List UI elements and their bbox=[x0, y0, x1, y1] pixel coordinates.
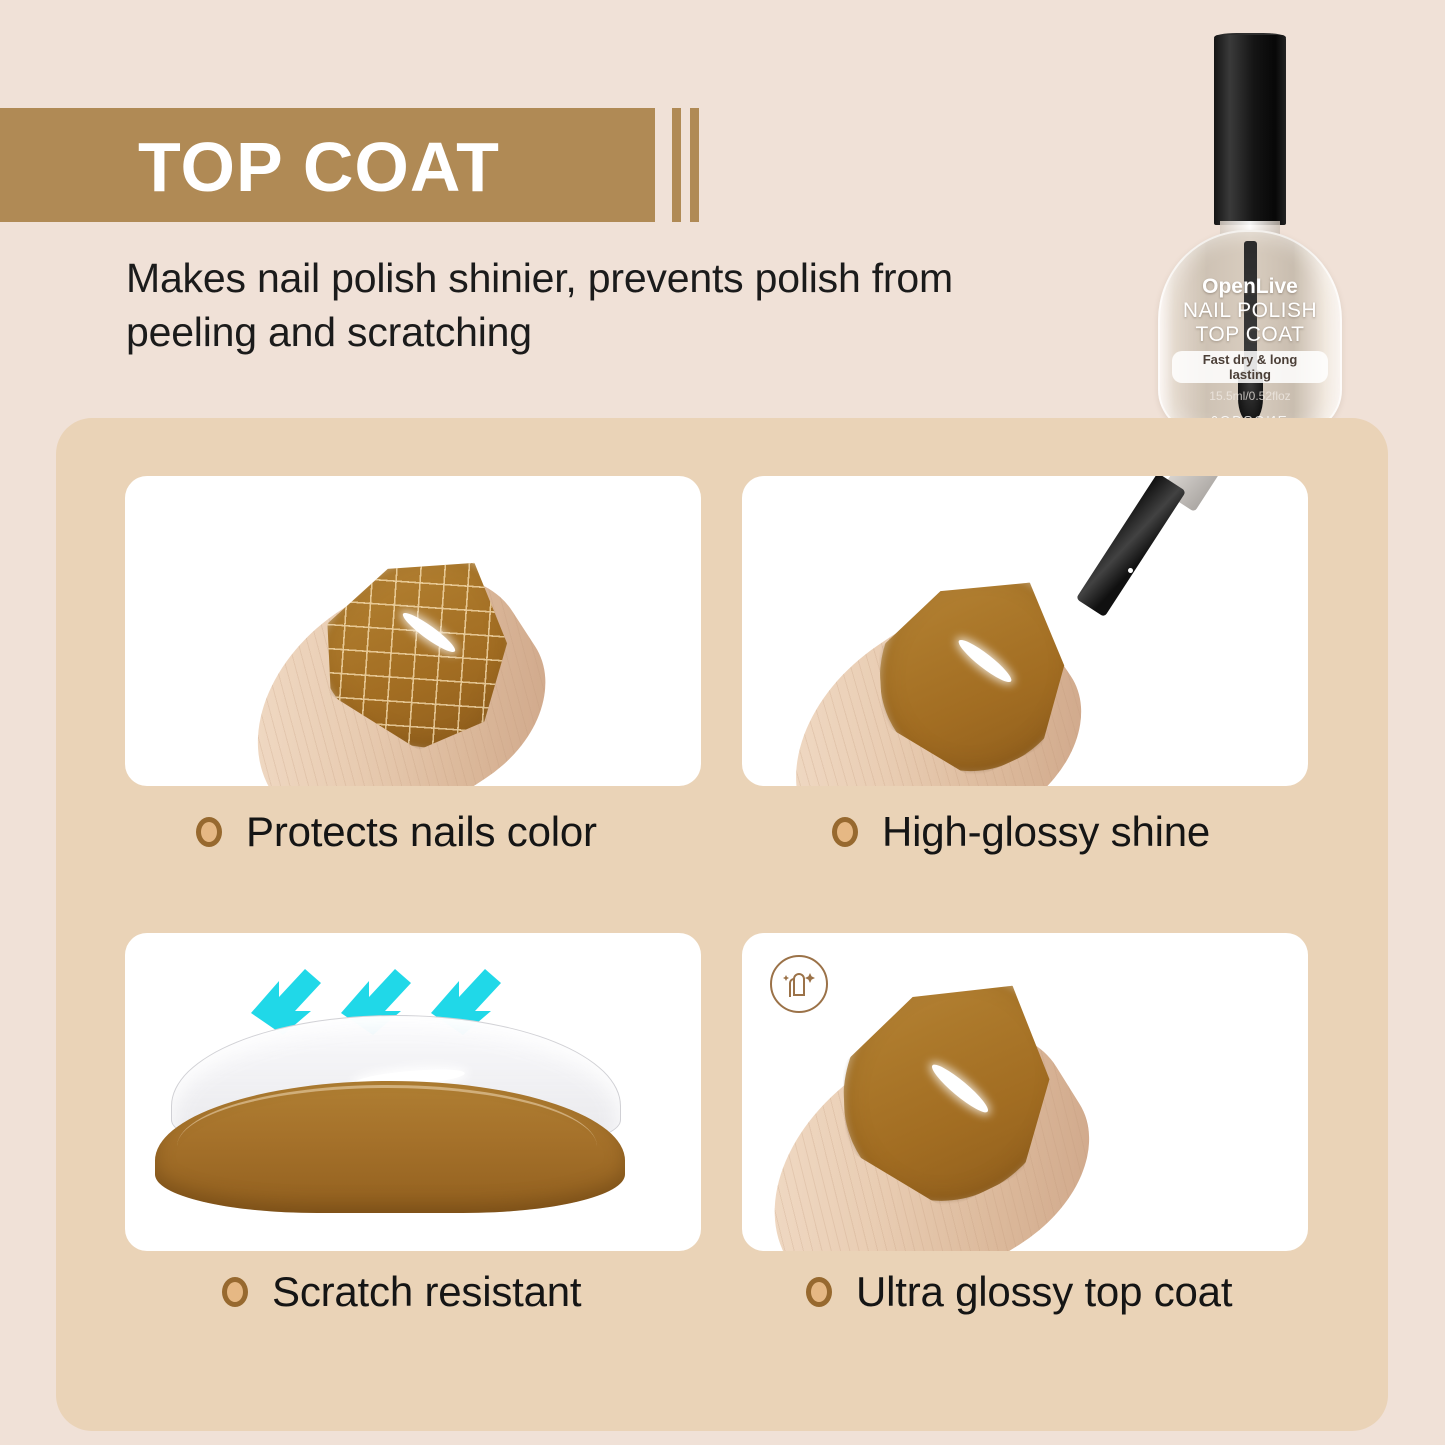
page-title: TOP COAT bbox=[138, 119, 638, 215]
ring-bullet-icon bbox=[222, 1277, 248, 1307]
product-bottle: OpenLive NAIL POLISH TOP COAT Fast dry &… bbox=[1150, 25, 1370, 475]
header-accent-bar-2 bbox=[690, 108, 699, 222]
brush-handle bbox=[1076, 476, 1186, 617]
caption-label: Ultra glossy top coat bbox=[856, 1268, 1232, 1316]
caption-high-glossy-shine: High-glossy shine bbox=[832, 808, 1210, 856]
nail-sparkle-badge-icon bbox=[770, 955, 828, 1013]
ring-bullet-icon bbox=[832, 817, 858, 847]
feature-card-ultra-glossy-top-coat[interactable] bbox=[742, 933, 1308, 1251]
caption-label: Scratch resistant bbox=[272, 1268, 581, 1316]
header-accent-bar-1 bbox=[672, 108, 681, 222]
caption-ultra-glossy-top-coat: Ultra glossy top coat bbox=[806, 1268, 1232, 1316]
ring-bullet-icon bbox=[806, 1277, 832, 1307]
ring-bullet-icon bbox=[196, 817, 222, 847]
subtitle-text: Makes nail polish shinier, prevents poli… bbox=[126, 251, 1076, 359]
feature-card-protects-nails-color[interactable] bbox=[125, 476, 701, 786]
bottle-cap bbox=[1214, 35, 1286, 225]
feature-card-high-glossy-shine[interactable] bbox=[742, 476, 1308, 786]
caption-scratch-resistant: Scratch resistant bbox=[222, 1268, 581, 1316]
feature-card-scratch-resistant[interactable] bbox=[125, 933, 701, 1251]
caption-label: High-glossy shine bbox=[882, 808, 1210, 856]
caption-label: Protects nails color bbox=[246, 808, 597, 856]
caption-protects-nails-color: Protects nails color bbox=[196, 808, 597, 856]
